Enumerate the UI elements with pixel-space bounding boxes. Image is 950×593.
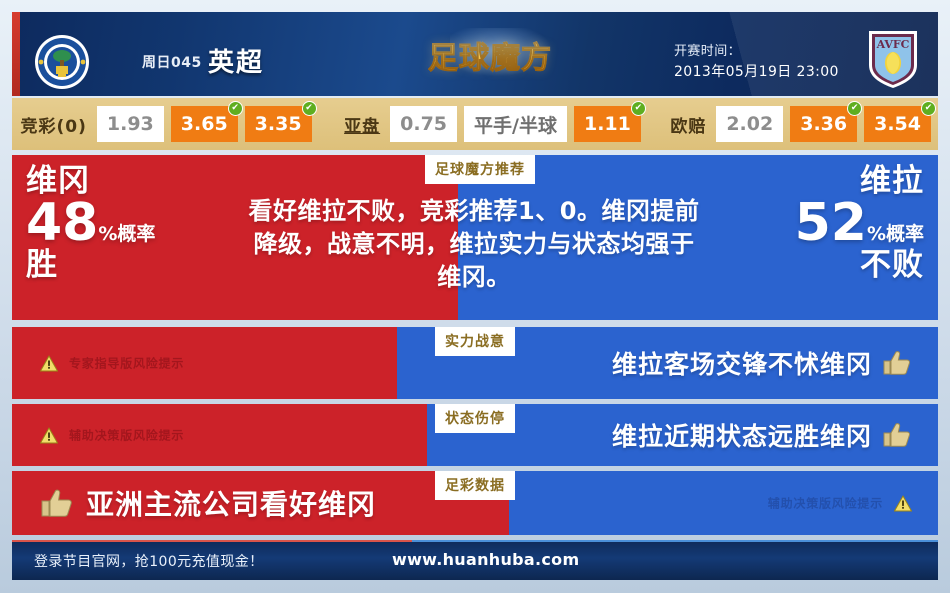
warning-triangle-icon bbox=[40, 427, 58, 443]
odds-cell-ap-handicap[interactable]: 平手/半球 bbox=[464, 106, 567, 142]
odds-group-yapan: 亚盘 0.75 平手/半球 1.11 ✔ bbox=[344, 106, 648, 142]
footer-bar: 登录节目官网，抢100元充值现金！ www.huanhuba.com bbox=[12, 540, 938, 580]
risk-note-text: 辅助决策版风险提示 bbox=[69, 427, 184, 444]
brand-logo-text: 足球魔方 bbox=[428, 33, 552, 77]
warning-triangle-icon bbox=[894, 495, 912, 511]
insight-tab-strength: 实力战意 bbox=[435, 327, 515, 356]
check-icon: ✔ bbox=[228, 101, 243, 116]
prediction-card: 周日045 英超 足球魔方 开赛时间： 2013年05月19日 23:00 AV… bbox=[0, 0, 950, 593]
home-probability-value: 48 bbox=[26, 193, 98, 253]
odds-group-title: 竞彩(0) bbox=[21, 112, 87, 137]
recommendation-text: 看好维拉不败，竞彩推荐1、0。维冈提前降级，战意不明，维拉实力与状态均强于维冈。 bbox=[248, 195, 700, 294]
odds-value: 0.75 bbox=[400, 113, 447, 135]
insight-headline: 维拉客场交锋不怵维冈 bbox=[612, 345, 912, 381]
away-outcome-label: 不败 bbox=[714, 249, 924, 282]
main-prediction-panel: 维冈 48%概率 胜 维拉 52%概率 不败 足球魔方推荐 看好维拉不败，竞彩推… bbox=[12, 155, 938, 320]
odds-bar: 竞彩(0) 1.93 3.65 ✔ 3.35 ✔ 亚盘 0.75 平手/半球 bbox=[12, 98, 938, 150]
league-name: 英超 bbox=[208, 42, 264, 79]
odds-cell-jc-2[interactable]: 3.65 ✔ bbox=[171, 106, 238, 142]
check-icon: ✔ bbox=[921, 101, 936, 116]
header-accent-bar bbox=[12, 12, 20, 96]
odds-value: 2.02 bbox=[726, 113, 773, 135]
away-probability-value: 52 bbox=[795, 193, 867, 253]
thumbs-up-icon bbox=[882, 422, 912, 448]
insight-headline: 亚洲主流公司看好维冈 bbox=[40, 483, 376, 523]
footer-promo-text: 登录节目官网，抢100元充值现金！ bbox=[34, 551, 264, 571]
brand-logo: 足球魔方 bbox=[420, 30, 560, 80]
odds-cell-ap-1[interactable]: 0.75 bbox=[390, 106, 457, 142]
odds-cell-op-2[interactable]: 3.36 ✔ bbox=[790, 106, 857, 142]
risk-note-left: 专家指导版风险提示 bbox=[40, 355, 184, 372]
odds-cell-jc-3[interactable]: 3.35 ✔ bbox=[245, 106, 312, 142]
home-outcome-label: 胜 bbox=[26, 249, 226, 282]
insight-tab-form: 状态伤停 bbox=[435, 404, 515, 433]
footer-website-url[interactable]: www.huanhuba.com bbox=[392, 550, 579, 569]
thumbs-up-icon bbox=[40, 488, 74, 518]
odds-cell-jc-1[interactable]: 1.93 bbox=[97, 106, 164, 142]
kickoff-time: 2013年05月19日 23:00 bbox=[674, 62, 839, 84]
home-probability-block: 维冈 48%概率 胜 bbox=[26, 165, 226, 281]
away-probability-suffix: %概率 bbox=[867, 223, 924, 245]
odds-value: 3.54 bbox=[874, 113, 921, 135]
odds-value: 1.11 bbox=[584, 113, 631, 135]
kickoff-label: 开赛时间： bbox=[674, 42, 839, 62]
home-probability: 48%概率 bbox=[26, 198, 226, 249]
risk-note-left: 辅助决策版风险提示 bbox=[40, 427, 184, 444]
home-probability-suffix: %概率 bbox=[98, 223, 155, 245]
insight-headline-text: 维拉客场交锋不怵维冈 bbox=[612, 345, 872, 381]
warning-triangle-icon bbox=[40, 355, 58, 371]
home-team-crest-icon bbox=[34, 34, 90, 90]
away-probability-block: 维拉 52%概率 不败 bbox=[714, 165, 924, 281]
insight-tab-lottery-data: 足彩数据 bbox=[435, 471, 515, 500]
insight-headline-text: 亚洲主流公司看好维冈 bbox=[86, 483, 376, 523]
thumbs-up-icon bbox=[882, 350, 912, 376]
check-icon: ✔ bbox=[631, 101, 646, 116]
odds-value: 3.36 bbox=[800, 113, 847, 135]
odds-value: 3.65 bbox=[181, 113, 228, 135]
away-probability: 52%概率 bbox=[714, 198, 924, 249]
svg-text:AVFC: AVFC bbox=[876, 38, 910, 51]
check-icon: ✔ bbox=[847, 101, 862, 116]
odds-group-title: 亚盘 bbox=[344, 112, 380, 137]
insight-headline-text: 维拉近期状态远胜维冈 bbox=[612, 417, 872, 453]
risk-note-right: 辅助决策版风险提示 bbox=[768, 495, 912, 512]
odds-cell-op-1[interactable]: 2.02 bbox=[716, 106, 783, 142]
recommendation-tab-label: 足球魔方推荐 bbox=[425, 155, 535, 184]
odds-cell-ap-3[interactable]: 1.11 ✔ bbox=[574, 106, 641, 142]
match-number: 周日045 bbox=[142, 52, 202, 72]
risk-note-text: 专家指导版风险提示 bbox=[69, 355, 184, 372]
insight-headline: 维拉近期状态远胜维冈 bbox=[612, 417, 912, 453]
odds-cell-op-3[interactable]: 3.54 ✔ bbox=[864, 106, 931, 142]
kickoff-block: 开赛时间： 2013年05月19日 23:00 bbox=[674, 42, 839, 84]
odds-value: 平手/半球 bbox=[474, 111, 557, 138]
match-header: 周日045 英超 足球魔方 开赛时间： 2013年05月19日 23:00 AV… bbox=[12, 12, 938, 96]
check-icon: ✔ bbox=[302, 101, 317, 116]
odds-value: 1.93 bbox=[107, 113, 154, 135]
odds-group-oupei: 欧赔 2.02 3.36 ✔ 3.54 ✔ bbox=[670, 106, 938, 142]
odds-value: 3.35 bbox=[255, 113, 302, 135]
away-team-crest-icon: AVFC bbox=[866, 28, 920, 90]
odds-group-title: 欧赔 bbox=[670, 112, 706, 137]
odds-group-jingcai: 竞彩(0) 1.93 3.65 ✔ 3.35 ✔ bbox=[21, 106, 319, 142]
risk-note-text: 辅助决策版风险提示 bbox=[768, 495, 883, 512]
